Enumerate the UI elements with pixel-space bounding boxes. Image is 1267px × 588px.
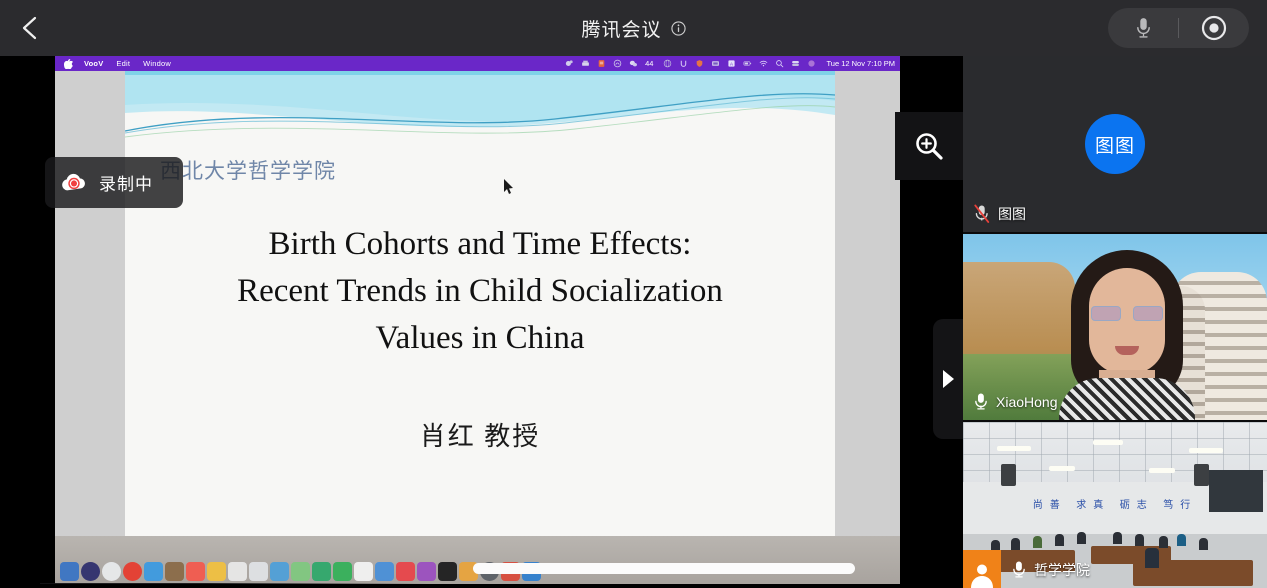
- avatar: 图图: [1085, 114, 1145, 174]
- participant-label: XiaoHong: [973, 392, 1058, 412]
- input-source-icon[interactable]: A: [727, 59, 736, 68]
- classroom-attendee: [1113, 532, 1122, 544]
- dock-icon-calendar[interactable]: [186, 562, 205, 581]
- meeting-title-group: 腾讯会议: [0, 0, 1267, 56]
- slide-organization: 西北大学哲学学院: [160, 155, 336, 185]
- dock-icon-mail[interactable]: [144, 562, 163, 581]
- participant-video: 尚善 求真 砺志 笃行: [963, 422, 1267, 588]
- dock-icon-opera[interactable]: [123, 562, 142, 581]
- record-dot-icon: [1201, 15, 1227, 41]
- dock-icon-reminders[interactable]: [228, 562, 247, 581]
- dock-icon-keynote[interactable]: [375, 562, 394, 581]
- control-center-icon[interactable]: [791, 59, 800, 68]
- record-button[interactable]: [1179, 8, 1249, 48]
- participants-panel: 图图 图图: [963, 56, 1267, 584]
- recording-badge: 录制中: [45, 157, 183, 208]
- dock-icon-finder[interactable]: [60, 562, 79, 581]
- tencent-docs-icon[interactable]: [597, 59, 606, 68]
- participant-name: XiaoHong: [996, 394, 1058, 410]
- ceiling-lamp: [997, 446, 1031, 451]
- display-icon[interactable]: [711, 59, 720, 68]
- slide-wave-decoration: [125, 71, 835, 151]
- mac-desktop-dock-area: [55, 536, 900, 584]
- slide-author: 肖红 教授: [125, 416, 835, 453]
- play-triangle-right-icon: [939, 368, 957, 390]
- recording-label: 录制中: [99, 170, 153, 195]
- shared-screen-stage[interactable]: VooV Edit Window 44 A Tue 12 N: [0, 56, 963, 584]
- dock-icon-music[interactable]: [396, 562, 415, 581]
- horizontal-scrollbar[interactable]: [473, 563, 855, 574]
- classroom-attendee: [1033, 536, 1042, 548]
- slide-title-line-3: Values in China: [145, 315, 815, 362]
- wall-speaker: [1001, 464, 1016, 486]
- glasses-lens-right: [1133, 306, 1163, 321]
- cloud-record-icon: [59, 172, 89, 194]
- classroom-attendee: [1199, 538, 1208, 550]
- shield-icon[interactable]: [695, 59, 704, 68]
- dock-icon-podcasts[interactable]: [417, 562, 436, 581]
- microphone-muted-icon: [973, 204, 991, 224]
- ceiling-lamp: [1093, 440, 1123, 445]
- app-top-bar: 腾讯会议: [0, 0, 1267, 56]
- wechat-icon[interactable]: [629, 59, 638, 68]
- participant-tile[interactable]: XiaoHong: [963, 234, 1267, 420]
- classroom-attendee: [1011, 538, 1020, 550]
- slide-title-line-1: Birth Cohorts and Time Effects:: [145, 221, 815, 268]
- battery-icon[interactable]: [743, 59, 752, 68]
- dropbox-icon[interactable]: [565, 59, 574, 68]
- mouse-cursor-icon: [503, 179, 514, 195]
- classroom-attendee: [1159, 536, 1168, 548]
- person-shirt: [1059, 378, 1195, 420]
- ceiling-lamp: [1149, 468, 1175, 473]
- slide-title: Birth Cohorts and Time Effects: Recent T…: [125, 221, 835, 362]
- printer-icon[interactable]: [581, 59, 590, 68]
- participant-tile[interactable]: 图图 图图: [963, 56, 1267, 232]
- dock-icon-photos[interactable]: [270, 562, 289, 581]
- top-controls-group: [1108, 8, 1249, 48]
- presentation-slide: 西北大学哲学学院 Birth Cohorts and Time Effects:…: [125, 71, 835, 536]
- creative-cloud-icon[interactable]: [613, 59, 622, 68]
- wall-speaker: [1194, 464, 1209, 486]
- microphone-icon: [973, 392, 989, 412]
- glasses-lens-left: [1091, 306, 1121, 321]
- participant-tile[interactable]: 尚善 求真 砺志 笃行: [963, 422, 1267, 588]
- dock-icon-stickies[interactable]: [207, 562, 226, 581]
- menu-bar-clock: Tue 12 Nov 7:10 PM: [826, 59, 895, 68]
- participant-name: 图图: [998, 204, 1026, 224]
- search-icon[interactable]: [775, 59, 784, 68]
- zoom-in-button[interactable]: [895, 112, 963, 180]
- mac-menu-bar: VooV Edit Window 44 A Tue 12 N: [55, 56, 900, 71]
- siri-icon[interactable]: [807, 59, 816, 68]
- apple-logo-icon: [64, 59, 73, 69]
- page-title: 腾讯会议: [581, 15, 661, 42]
- person-glasses: [1091, 306, 1163, 321]
- mac-dock[interactable]: [60, 558, 541, 581]
- chevron-left-icon: [19, 15, 41, 41]
- classroom-attendee: [1177, 534, 1186, 546]
- classroom-window: [1209, 470, 1263, 512]
- dock-icon-appletv[interactable]: [438, 562, 457, 581]
- menu-bar-status-group: 44 A Tue 12 Nov 7:10 PM: [565, 56, 895, 71]
- dock-icon-notes[interactable]: [165, 562, 184, 581]
- person-face: [1089, 268, 1165, 374]
- shared-desktop: VooV Edit Window 44 A Tue 12 N: [55, 56, 900, 584]
- alfred-icon[interactable]: [679, 59, 688, 68]
- collapse-panel-tab[interactable]: [933, 319, 963, 439]
- participant-avatar-badge: [963, 550, 1001, 588]
- dock-icon-chrome[interactable]: [102, 562, 121, 581]
- slide-title-line-2: Recent Trends in Child Socialization: [145, 268, 815, 315]
- participant-label: 图图: [973, 204, 1026, 224]
- magnifier-plus-icon: [912, 129, 946, 163]
- dock-icon-maps[interactable]: [249, 562, 268, 581]
- ceiling-lamp: [1049, 466, 1075, 471]
- wifi-icon[interactable]: [759, 59, 768, 68]
- menu-item-edit[interactable]: Edit: [116, 59, 130, 68]
- info-circle-icon[interactable]: [671, 21, 686, 36]
- microphone-icon: [1135, 16, 1152, 41]
- notification-badge-count: 44: [645, 59, 653, 68]
- globe-icon[interactable]: [663, 59, 672, 68]
- menu-item-window[interactable]: Window: [143, 59, 171, 68]
- dock-icon-facetime[interactable]: [312, 562, 331, 581]
- dock-icon-messages[interactable]: [291, 562, 310, 581]
- microphone-button[interactable]: [1108, 8, 1178, 48]
- menu-item-voov[interactable]: VooV: [84, 59, 103, 68]
- classroom-attendee: [1055, 534, 1064, 546]
- participant-name: 哲学学院: [1034, 560, 1090, 580]
- svg-text:A: A: [730, 61, 733, 66]
- back-button[interactable]: [0, 0, 60, 56]
- ceiling-lamp: [1189, 448, 1223, 453]
- classroom-attendee: [1145, 548, 1159, 568]
- dock-icon-siri[interactable]: [81, 562, 100, 581]
- classroom-attendee: [1077, 532, 1086, 544]
- dock-icon-numbers[interactable]: [354, 562, 373, 581]
- participant-label: 哲学学院: [1011, 560, 1090, 580]
- classroom-attendee: [1135, 534, 1144, 546]
- microphone-icon: [1011, 560, 1027, 580]
- dock-icon-notes2[interactable]: [333, 562, 352, 581]
